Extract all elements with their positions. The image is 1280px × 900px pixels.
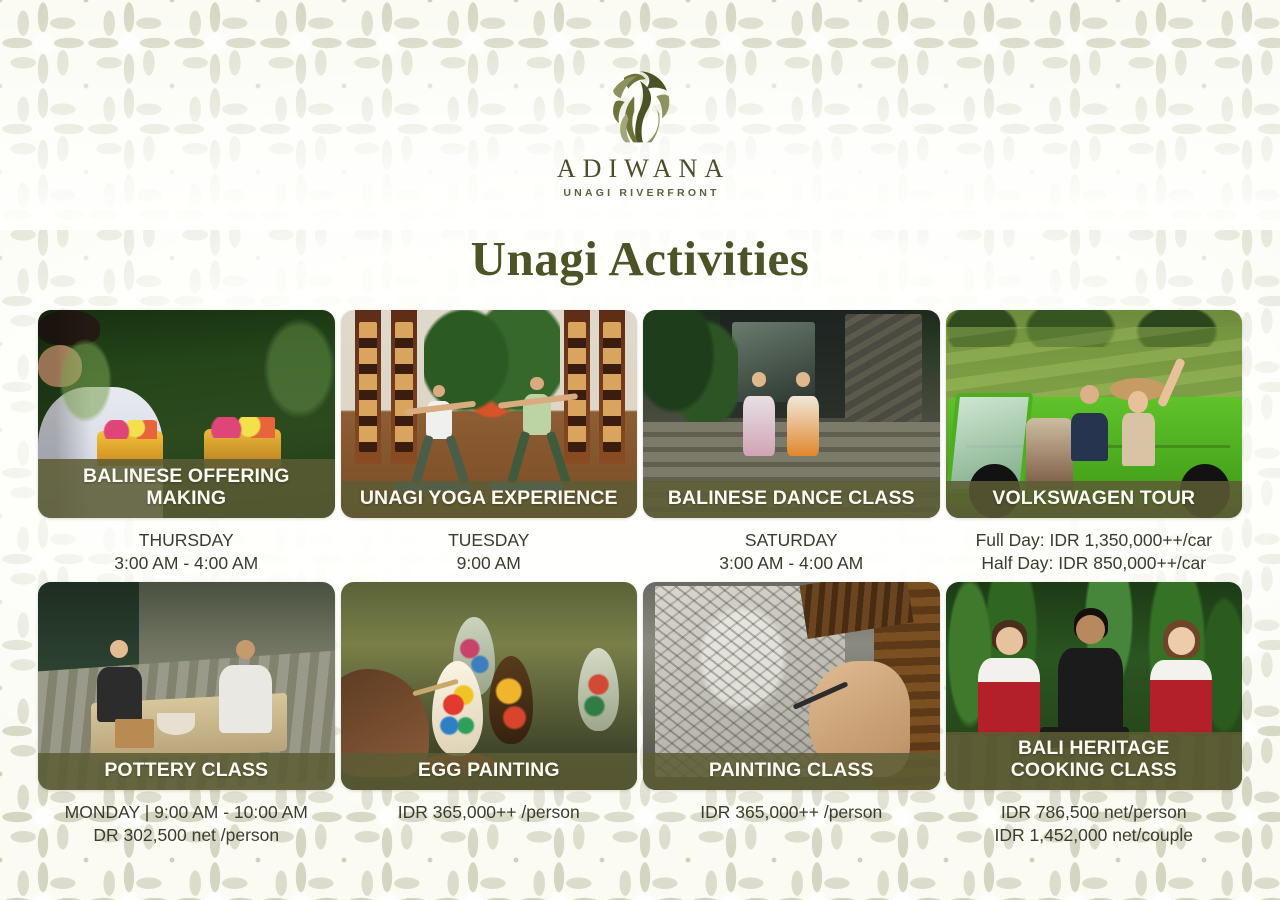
photo-detail xyxy=(38,345,82,387)
photo-detail xyxy=(219,640,272,732)
activity-caption: MONDAY | 9:00 AM - 10:00 AM DR 302,500 n… xyxy=(38,801,335,848)
activity-caption: IDR 365,000++ /person xyxy=(643,801,940,824)
activity-label: VOLKSWAGEN TOUR xyxy=(946,481,1243,518)
activity-label: BALINESE OFFERING MAKING xyxy=(38,459,335,518)
photo-detail xyxy=(355,310,381,464)
activities-grid: BALINESE OFFERING MAKING THURSDAY 3:00 A… xyxy=(38,310,1242,847)
photo-detail xyxy=(38,310,100,345)
activity-photo-frame: VOLKSWAGEN TOUR xyxy=(946,310,1243,518)
page-title: Unagi Activities xyxy=(0,230,1280,287)
activity-label: EGG PAINTING xyxy=(341,753,638,790)
activity-photo-frame: PAINTING CLASS xyxy=(643,582,940,790)
activity-label: PAINTING CLASS xyxy=(643,753,940,790)
activity-caption: IDR 365,000++ /person xyxy=(341,801,638,824)
activity-card-unagi-yoga-experience[interactable]: UNAGI YOGA EXPERIENCE TUESDAY 9:00 AM xyxy=(341,310,638,576)
photo-detail xyxy=(412,385,468,485)
photo-detail xyxy=(785,372,821,455)
photo-detail xyxy=(489,656,533,743)
photo-detail xyxy=(115,719,154,748)
activity-label: UNAGI YOGA EXPERIENCE xyxy=(341,481,638,518)
activity-photo-frame: EGG PAINTING xyxy=(341,582,638,790)
activity-caption: THURSDAY 3:00 AM - 4:00 AM xyxy=(38,529,335,576)
photo-detail xyxy=(599,310,625,464)
poster-header: ADIWANA UNAGI RIVERFRONT Unagi Activitie… xyxy=(0,0,1280,287)
photo-detail xyxy=(578,648,620,731)
photo-detail xyxy=(1117,377,1159,464)
photo-detail xyxy=(845,314,922,430)
activity-card-balinese-dance-class[interactable]: BALINESE DANCE CLASS SATURDAY 3:00 AM - … xyxy=(643,310,940,576)
photo-detail xyxy=(1058,615,1123,744)
activity-card-painting-class[interactable]: PAINTING CLASS IDR 365,000++ /person xyxy=(643,582,940,848)
activity-photo-frame: UNAGI YOGA EXPERIENCE xyxy=(341,310,638,518)
brand-name: ADIWANA xyxy=(0,156,1280,182)
photo-detail xyxy=(432,661,482,757)
activity-photo-frame: BALINESE DANCE CLASS xyxy=(643,310,940,518)
adiwana-tree-logo-icon xyxy=(592,58,688,150)
activity-photo-frame: POTTERY CLASS xyxy=(38,582,335,790)
photo-detail xyxy=(978,627,1040,743)
activity-card-egg-painting[interactable]: EGG PAINTING IDR 365,000++ /person xyxy=(341,582,638,848)
photo-detail xyxy=(1150,627,1212,743)
activity-label: BALI HERITAGE COOKING CLASS xyxy=(946,732,1243,790)
activity-caption: SATURDAY 3:00 AM - 4:00 AM xyxy=(643,529,940,576)
activity-card-volkswagen-tour[interactable]: VOLKSWAGEN TOUR Full Day: IDR 1,350,000+… xyxy=(946,310,1243,576)
activity-label: POTTERY CLASS xyxy=(38,753,335,790)
activity-card-bali-heritage-cooking-class[interactable]: BALI HERITAGE COOKING CLASS IDR 786,500 … xyxy=(946,582,1243,848)
activity-caption: IDR 786,500 net/person IDR 1,452,000 net… xyxy=(946,801,1243,848)
activity-caption: Full Day: IDR 1,350,000++/car Half Day: … xyxy=(946,529,1243,576)
activity-photo-frame: BALI HERITAGE COOKING CLASS xyxy=(946,582,1243,790)
brand-subtitle: UNAGI RIVERFRONT xyxy=(0,187,1280,199)
activity-card-pottery-class[interactable]: POTTERY CLASS MONDAY | 9:00 AM - 10:00 A… xyxy=(38,582,335,848)
photo-detail xyxy=(1026,418,1073,489)
activity-label: BALINESE DANCE CLASS xyxy=(643,481,940,518)
activity-photo-frame: BALINESE OFFERING MAKING xyxy=(38,310,335,518)
photo-detail xyxy=(643,310,738,426)
photo-detail xyxy=(1070,385,1109,460)
photo-detail xyxy=(97,640,141,719)
activity-caption: TUESDAY 9:00 AM xyxy=(341,529,638,576)
activity-card-balinese-offering-making[interactable]: BALINESE OFFERING MAKING THURSDAY 3:00 A… xyxy=(38,310,335,576)
photo-detail xyxy=(507,377,569,485)
activities-poster: ADIWANA UNAGI RIVERFRONT Unagi Activitie… xyxy=(0,0,1280,900)
photo-detail xyxy=(741,372,777,455)
